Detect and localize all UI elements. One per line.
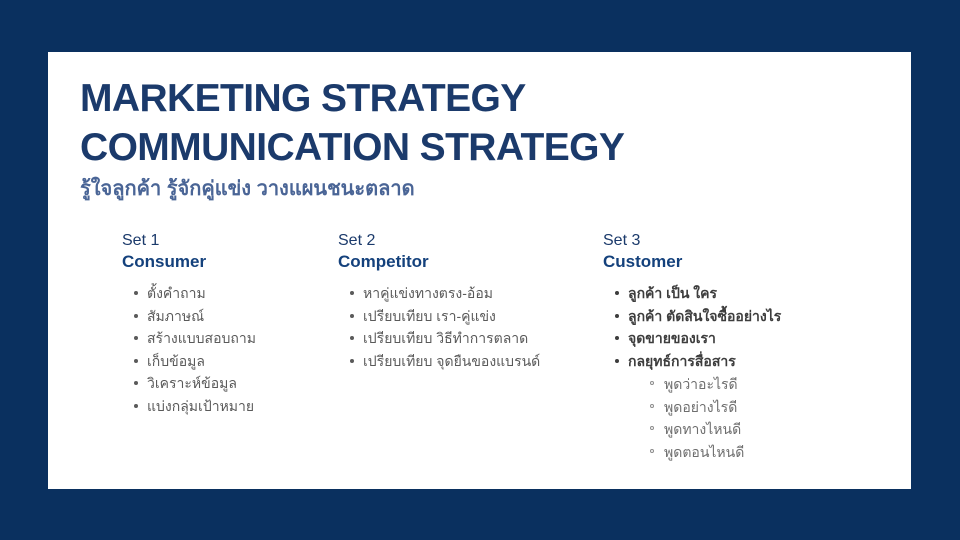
list-item: เปรียบเทียบ จุดยืนของแบรนด์ <box>350 350 588 373</box>
page-subtitle: รู้ใจลูกค้า รู้จักคู่แข่ง วางแผนชนะตลาด <box>80 176 880 202</box>
page-title-line-2: COMMUNICATION STRATEGY <box>80 123 880 172</box>
column-set-3: Set 3 Customer ลูกค้า เป็น ใคร ลูกค้า ตั… <box>603 230 903 463</box>
sub-list-item: พูดว่าอะไรดี <box>650 373 903 396</box>
sub-list-item: พูดตอนไหนดี <box>650 441 903 464</box>
list-item: ลูกค้า ตัดสินใจซื้ออย่างไร <box>615 305 903 328</box>
set-name-1: Consumer <box>122 251 337 273</box>
list-item: แบ่งกลุ่มเป้าหมาย <box>134 395 337 418</box>
column-set-1: Set 1 Consumer ตั้งคำถาม สัมภาษณ์ สร้างแ… <box>122 230 337 417</box>
set-label-1: Set 1 <box>122 230 337 251</box>
sub-bullet-list-3: พูดว่าอะไรดี พูดอย่างไรดี พูดทางไหนดี พู… <box>628 373 903 463</box>
list-item: เปรียบเทียบ เรา-คู่แข่ง <box>350 305 588 328</box>
bullet-list-2: หาคู่แข่งทางตรง-อ้อม เปรียบเทียบ เรา-คู่… <box>338 282 588 372</box>
list-item: สัมภาษณ์ <box>134 305 337 328</box>
title-block: MARKETING STRATEGY COMMUNICATION STRATEG… <box>80 74 880 202</box>
set-label-2: Set 2 <box>338 230 588 251</box>
page-title-line-1: MARKETING STRATEGY <box>80 74 880 123</box>
list-item: หาคู่แข่งทางตรง-อ้อม <box>350 282 588 305</box>
sub-list-item: พูดทางไหนดี <box>650 418 903 441</box>
content-card: MARKETING STRATEGY COMMUNICATION STRATEG… <box>48 52 911 489</box>
column-set-2: Set 2 Competitor หาคู่แข่งทางตรง-อ้อม เป… <box>338 230 588 372</box>
list-item: ลูกค้า เป็น ใคร <box>615 282 903 305</box>
list-item: กลยุทธ์การสื่อสาร พูดว่าอะไรดี พูดอย่างไ… <box>615 350 903 464</box>
set-name-3: Customer <box>603 251 903 273</box>
list-item-label: กลยุทธ์การสื่อสาร <box>628 353 736 369</box>
set-name-2: Competitor <box>338 251 588 273</box>
list-item: เปรียบเทียบ วิธีทำการตลาด <box>350 327 588 350</box>
columns-container: Set 1 Consumer ตั้งคำถาม สัมภาษณ์ สร้างแ… <box>48 230 911 480</box>
bullet-list-3: ลูกค้า เป็น ใคร ลูกค้า ตัดสินใจซื้ออย่าง… <box>603 282 903 463</box>
list-item: ตั้งคำถาม <box>134 282 337 305</box>
sub-list-item: พูดอย่างไรดี <box>650 396 903 419</box>
list-item: สร้างแบบสอบถาม <box>134 327 337 350</box>
slide-root: MARKETING STRATEGY COMMUNICATION STRATEG… <box>0 0 960 540</box>
list-item: เก็บข้อมูล <box>134 350 337 373</box>
bullet-list-1: ตั้งคำถาม สัมภาษณ์ สร้างแบบสอบถาม เก็บข้… <box>122 282 337 417</box>
set-label-3: Set 3 <box>603 230 903 251</box>
list-item: จุดขายของเรา <box>615 327 903 350</box>
list-item: วิเคราะห์ข้อมูล <box>134 372 337 395</box>
